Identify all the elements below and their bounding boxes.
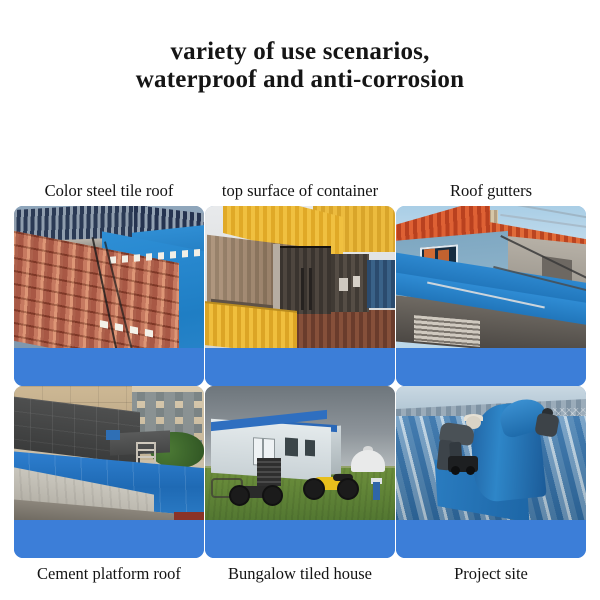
card-blue-bar	[205, 348, 395, 386]
black-motorcycle	[229, 484, 283, 506]
gallery-cell-project-site: Project site	[396, 386, 586, 589]
caption-color-steel-tile-roof: Color steel tile roof	[14, 176, 204, 206]
card-cement-platform-roof[interactable]	[14, 386, 204, 558]
card-bungalow-tiled-house[interactable]	[205, 386, 395, 558]
photo-project-site	[396, 386, 586, 520]
page-title-line-1: variety of use scenarios,	[0, 38, 600, 66]
card-blue-bar	[14, 348, 204, 386]
photo-top-surface-of-container	[205, 206, 395, 348]
caption-cement-platform-roof: Cement platform roof	[14, 559, 204, 589]
photo-color-steel-tile-roof	[14, 206, 204, 348]
worker-background	[534, 412, 559, 437]
scenario-gallery: Color steel tile roof top surface of con…	[14, 176, 586, 589]
card-blue-bar	[396, 348, 586, 386]
gallery-cell-cement-platform-roof: Cement platform roof	[14, 386, 204, 589]
dark-container	[279, 248, 331, 314]
gallery-cell-top-surface-of-container: top surface of container	[205, 176, 395, 386]
card-blue-bar	[396, 520, 586, 558]
page-title: variety of use scenarios, waterproof and…	[0, 38, 600, 94]
gallery-cell-bungalow-tiled-house: Bungalow tiled house	[205, 386, 395, 589]
caption-top-surface-of-container: top surface of container	[205, 176, 395, 206]
caption-roof-gutters: Roof gutters	[396, 176, 586, 206]
photo-cement-platform-roof	[14, 386, 204, 520]
photo-bungalow-tiled-house	[205, 386, 395, 520]
caption-project-site: Project site	[396, 559, 586, 589]
photo-roof-gutters	[396, 206, 586, 348]
card-roof-gutters[interactable]	[396, 206, 586, 386]
yellow-motorcycle	[303, 476, 359, 500]
card-blue-bar	[205, 520, 395, 558]
gallery-cell-roof-gutters: Roof gutters	[396, 176, 586, 386]
page-title-line-2: waterproof and anti-corrosion	[0, 66, 600, 94]
card-top-surface-of-container[interactable]	[205, 206, 395, 386]
card-color-steel-tile-roof[interactable]	[14, 206, 204, 386]
blue-container	[367, 260, 395, 308]
card-project-site[interactable]	[396, 386, 586, 558]
caption-bungalow-tiled-house: Bungalow tiled house	[205, 559, 395, 589]
card-blue-bar	[14, 520, 204, 558]
gallery-cell-color-steel-tile-roof: Color steel tile roof	[14, 176, 204, 386]
